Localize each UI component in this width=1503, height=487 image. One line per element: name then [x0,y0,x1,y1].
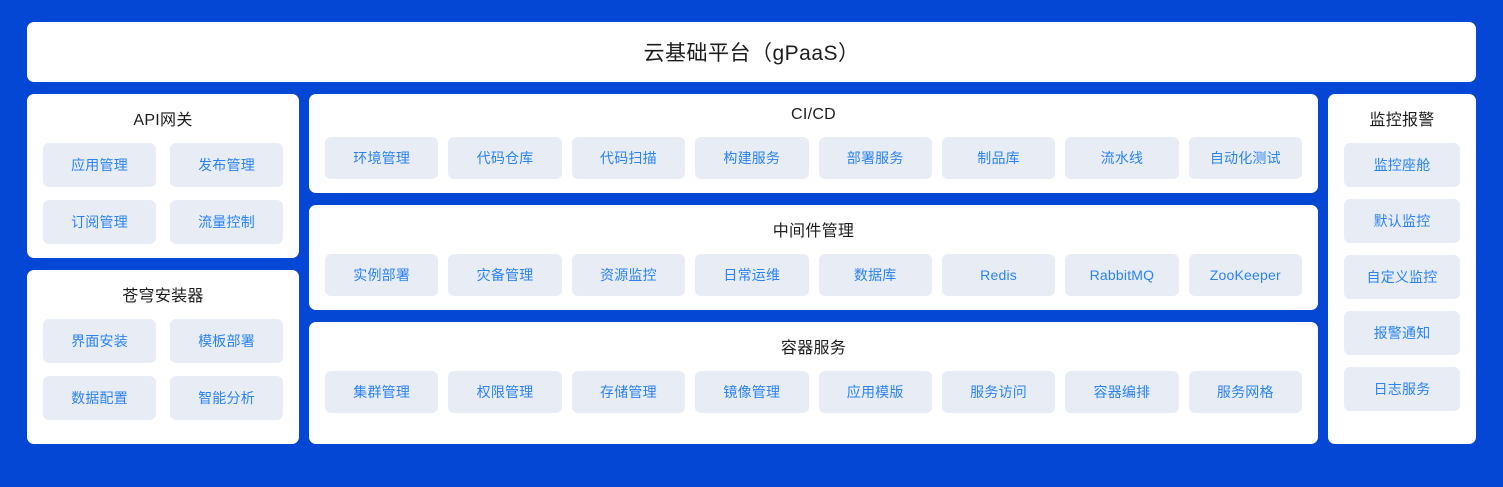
tile-alert-notification[interactable]: 报警通知 [1344,311,1460,355]
tile-code-scan[interactable]: 代码扫描 [572,137,685,179]
panel-installer: 苍穹安装器 界面安装 模板部署 数据配置 智能分析 [27,270,299,444]
left-column: API网关 应用管理 发布管理 订阅管理 流量控制 苍穹安装器 界面安装 模板部… [27,94,299,444]
center-column: CI/CD 环境管理 代码仓库 代码扫描 构建服务 部署服务 制品库 流水线 自… [309,94,1318,444]
tile-log-service[interactable]: 日志服务 [1344,367,1460,411]
panel-title-monitoring-alerting: 监控报警 [1344,106,1460,130]
tile-default-monitoring[interactable]: 默认监控 [1344,199,1460,243]
platform-banner: 云基础平台（gPaaS） [27,22,1476,82]
container-tile-row: 集群管理 权限管理 存储管理 镜像管理 应用模版 服务访问 容器编排 服务网格 [325,371,1302,413]
tile-build-service[interactable]: 构建服务 [695,137,808,179]
tile-deploy-service[interactable]: 部署服务 [819,137,932,179]
middleware-tile-row: 实例部署 灾备管理 资源监控 日常运维 数据库 Redis RabbitMQ Z… [325,254,1302,296]
tile-environment-management[interactable]: 环境管理 [325,137,438,179]
tile-zookeeper[interactable]: ZooKeeper [1189,254,1302,296]
tile-service-mesh[interactable]: 服务网格 [1189,371,1302,413]
panel-api-gateway: API网关 应用管理 发布管理 订阅管理 流量控制 [27,94,299,258]
tile-database[interactable]: 数据库 [819,254,932,296]
tile-cluster-management[interactable]: 集群管理 [325,371,438,413]
tile-resource-monitoring[interactable]: 资源监控 [572,254,685,296]
tile-service-access[interactable]: 服务访问 [942,371,1055,413]
tile-traffic-control[interactable]: 流量控制 [170,200,283,244]
cicd-tile-row: 环境管理 代码仓库 代码扫描 构建服务 部署服务 制品库 流水线 自动化测试 [325,137,1302,179]
platform-title: 云基础平台（gPaaS） [643,37,859,67]
tile-data-config[interactable]: 数据配置 [43,376,156,420]
panel-cicd: CI/CD 环境管理 代码仓库 代码扫描 构建服务 部署服务 制品库 流水线 自… [309,94,1318,193]
tile-application-template[interactable]: 应用模版 [819,371,932,413]
panel-title-container-service: 容器服务 [325,334,1302,358]
tile-app-management[interactable]: 应用管理 [43,143,156,187]
panel-monitoring-alerting: 监控报警 监控座舱 默认监控 自定义监控 报警通知 日志服务 [1328,94,1476,444]
panel-title-api-gateway: API网关 [43,106,283,130]
tile-subscription-management[interactable]: 订阅管理 [43,200,156,244]
panel-title-installer: 苍穹安装器 [43,282,283,306]
monitoring-tile-stack: 监控座舱 默认监控 自定义监控 报警通知 日志服务 [1344,143,1460,430]
tile-release-management[interactable]: 发布管理 [170,143,283,187]
tile-artifact-repository[interactable]: 制品库 [942,137,1055,179]
tile-redis[interactable]: Redis [942,254,1055,296]
tile-template-deploy[interactable]: 模板部署 [170,319,283,363]
tile-disaster-recovery[interactable]: 灾备管理 [448,254,561,296]
installer-tile-grid: 界面安装 模板部署 数据配置 智能分析 [43,319,283,430]
tile-container-orchestration[interactable]: 容器编排 [1065,371,1178,413]
tile-image-management[interactable]: 镜像管理 [695,371,808,413]
panel-container-service: 容器服务 集群管理 权限管理 存储管理 镜像管理 应用模版 服务访问 容器编排 … [309,322,1318,444]
tile-smart-analysis[interactable]: 智能分析 [170,376,283,420]
diagram-columns: API网关 应用管理 发布管理 订阅管理 流量控制 苍穹安装器 界面安装 模板部… [27,94,1476,444]
panel-title-cicd: CI/CD [325,106,1302,124]
tile-daily-operations[interactable]: 日常运维 [695,254,808,296]
tile-storage-management[interactable]: 存储管理 [572,371,685,413]
api-gateway-tile-grid: 应用管理 发布管理 订阅管理 流量控制 [43,143,283,244]
tile-permission-management[interactable]: 权限管理 [448,371,561,413]
tile-ui-install[interactable]: 界面安装 [43,319,156,363]
panel-middleware: 中间件管理 实例部署 灾备管理 资源监控 日常运维 数据库 Redis Rabb… [309,205,1318,310]
tile-custom-monitoring[interactable]: 自定义监控 [1344,255,1460,299]
tile-monitoring-cockpit[interactable]: 监控座舱 [1344,143,1460,187]
tile-automated-testing[interactable]: 自动化测试 [1189,137,1302,179]
right-column: 监控报警 监控座舱 默认监控 自定义监控 报警通知 日志服务 [1328,94,1476,444]
panel-title-middleware: 中间件管理 [325,217,1302,241]
tile-instance-deploy[interactable]: 实例部署 [325,254,438,296]
tile-code-repository[interactable]: 代码仓库 [448,137,561,179]
tile-rabbitmq[interactable]: RabbitMQ [1065,254,1178,296]
tile-pipeline[interactable]: 流水线 [1065,137,1178,179]
architecture-diagram: 云基础平台（gPaaS） API网关 应用管理 发布管理 订阅管理 流量控制 [27,22,1476,444]
